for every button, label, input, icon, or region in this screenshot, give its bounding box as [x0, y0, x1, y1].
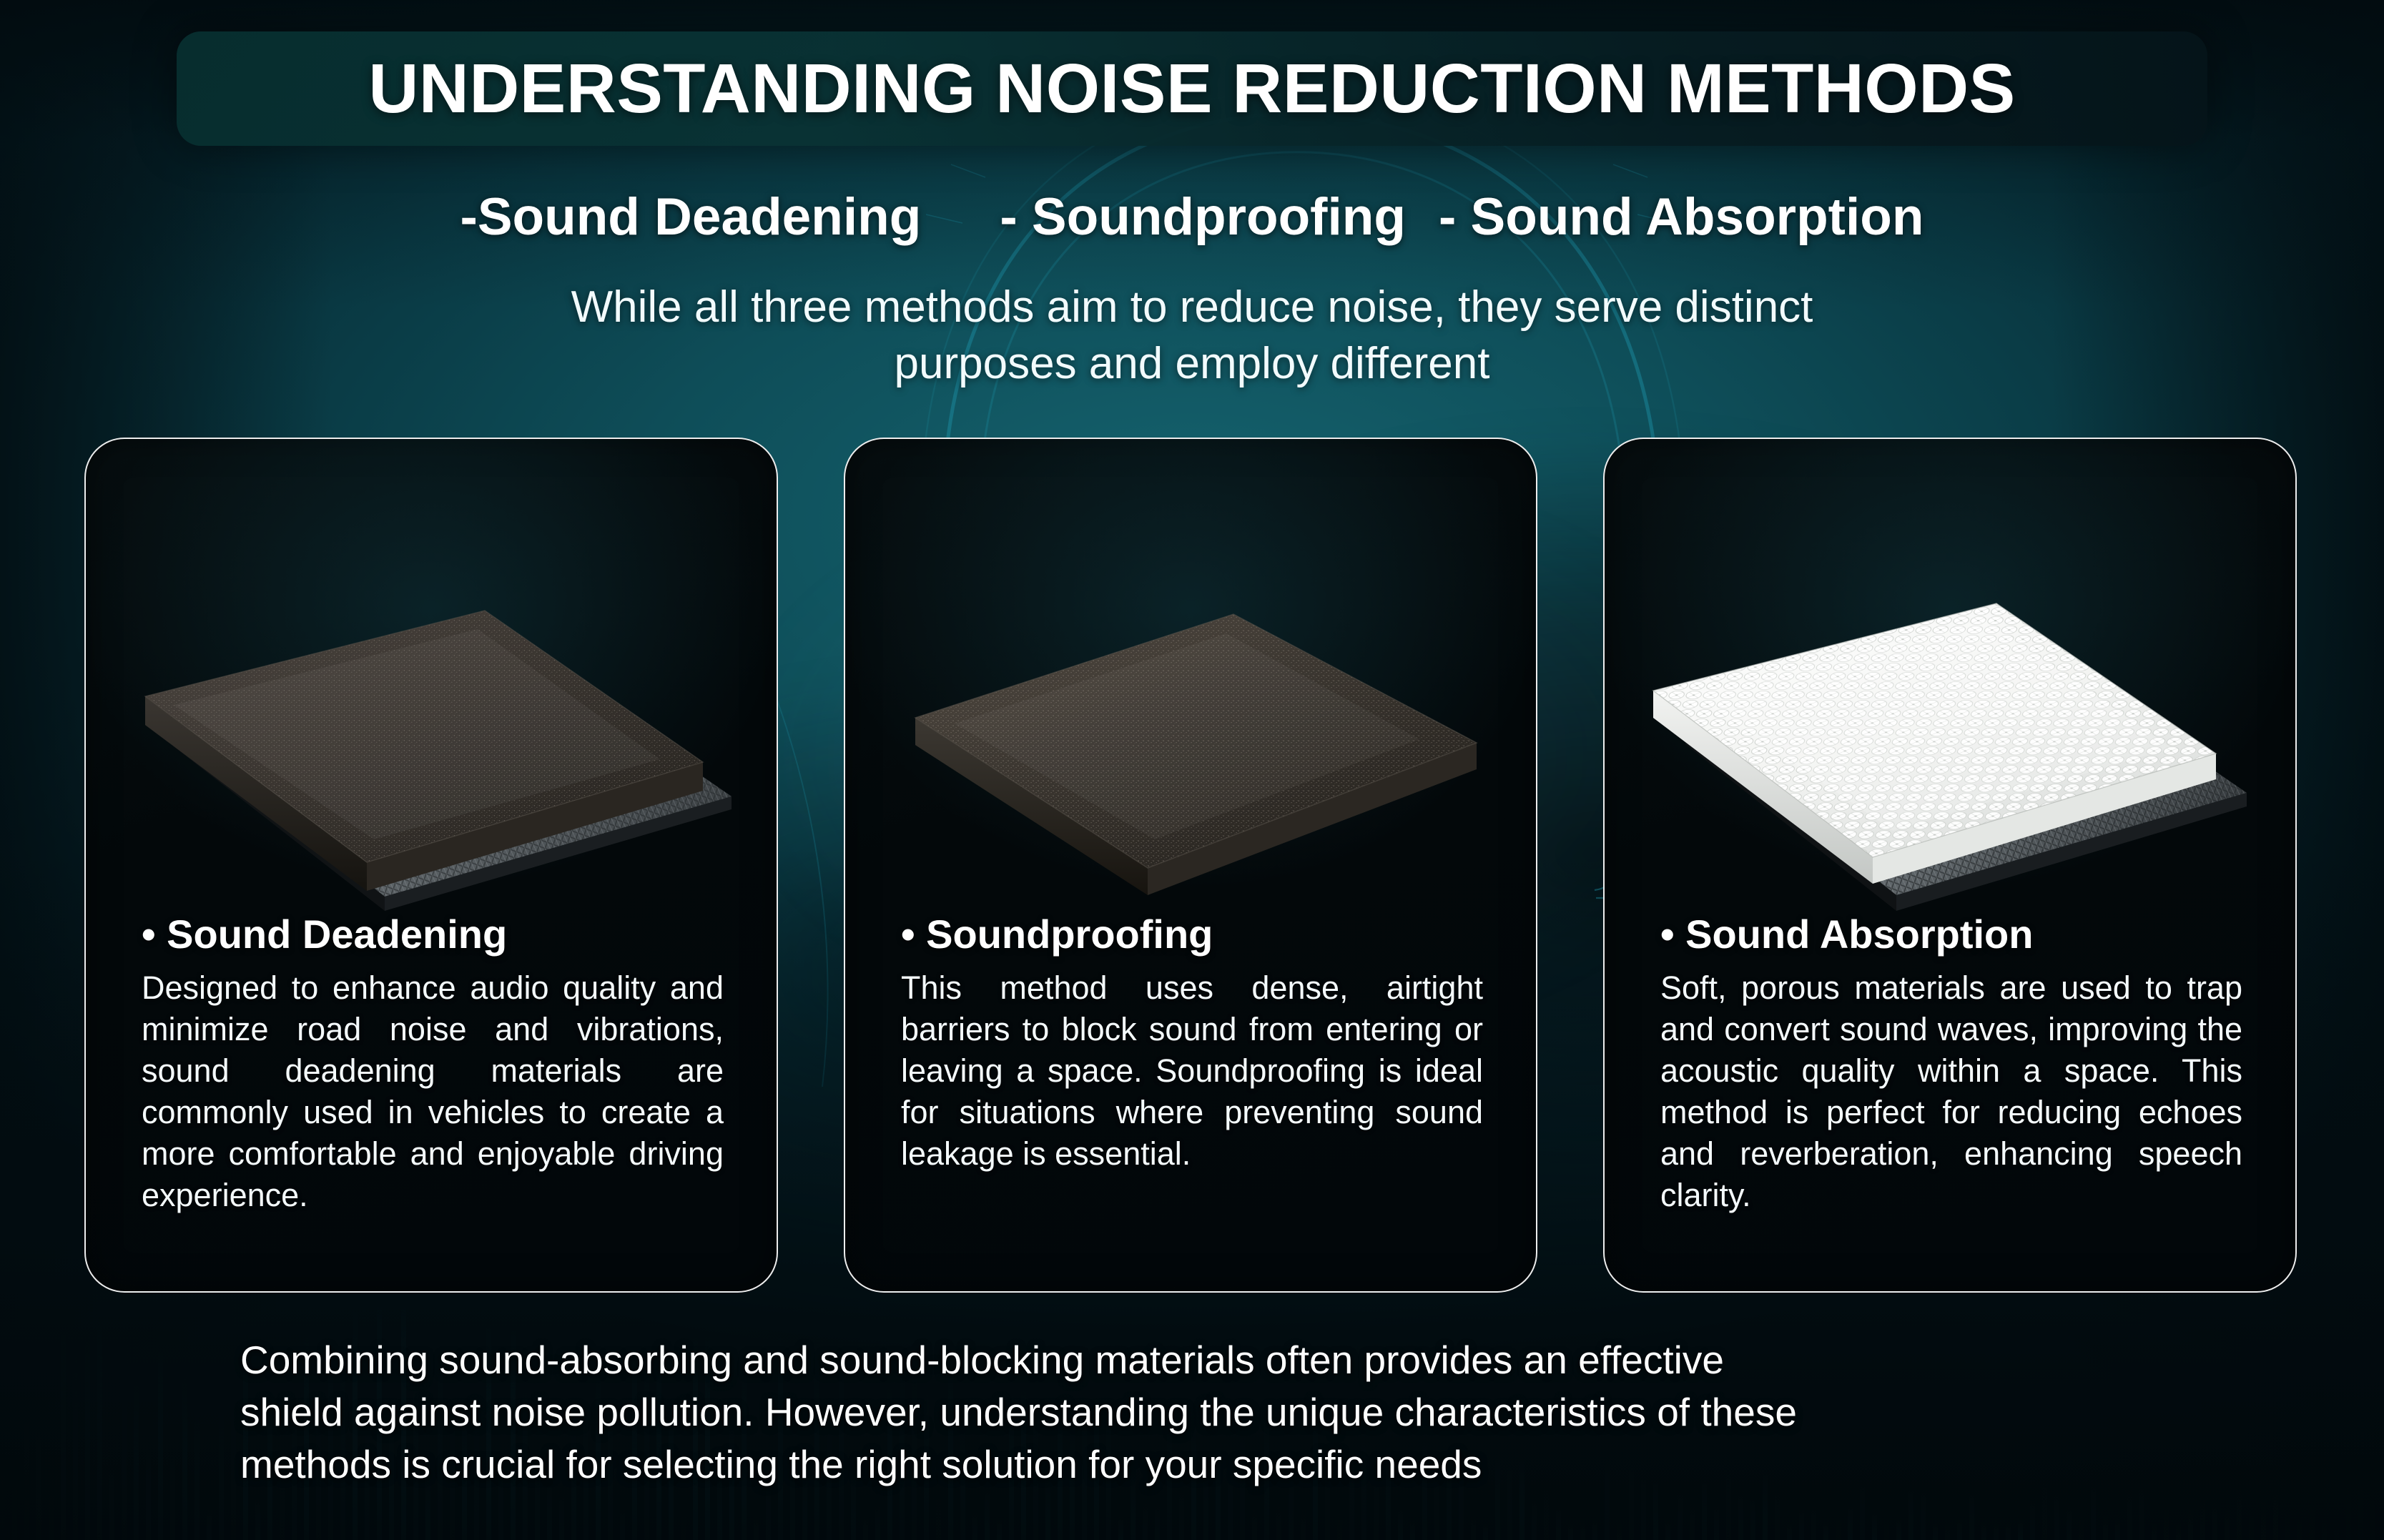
- card-image-sound-absorption: [1605, 439, 2295, 939]
- infographic-canvas: UNDERSTANDING NOISE REDUCTION METHODS -S…: [0, 0, 2384, 1540]
- card-image-soundproofing: [845, 439, 1536, 939]
- methods-list: -Sound Deadening - Soundproofing - Sound…: [0, 187, 2384, 247]
- card-sound-deadening[interactable]: • Sound Deadening Designed to enhance au…: [84, 438, 778, 1293]
- card-heading-sound-absorption: • Sound Absorption: [1660, 911, 2242, 957]
- card-body: • Sound Absorption Soft, porous material…: [1660, 911, 2242, 1216]
- card-body: • Sound Deadening Designed to enhance au…: [142, 911, 724, 1216]
- method-label-deadening: -Sound Deadening: [460, 187, 922, 247]
- card-text-sound-absorption: Soft, porous materials are used to trap …: [1660, 967, 2242, 1216]
- card-soundproofing[interactable]: • Soundproofing This method uses dense, …: [844, 438, 1537, 1293]
- footer-paragraph: Combining sound-absorbing and sound-bloc…: [240, 1334, 2151, 1491]
- card-text-sound-deadening: Designed to enhance audio quality and mi…: [142, 967, 724, 1216]
- subtitle-line-2: purposes and employ different: [0, 335, 2384, 392]
- footer-line-2: shield against noise pollution. However,…: [240, 1386, 2151, 1438]
- foam-barrier-sheet: [915, 614, 1477, 895]
- footer-line-1: Combining sound-absorbing and sound-bloc…: [240, 1334, 2151, 1386]
- card-body: • Soundproofing This method uses dense, …: [901, 911, 1483, 1175]
- card-text-soundproofing: This method uses dense, airtight barrier…: [901, 967, 1483, 1175]
- foam-top-layer: [145, 611, 703, 891]
- card-sound-absorption[interactable]: • Sound Absorption Soft, porous material…: [1603, 438, 2297, 1293]
- subtitle-line-1: While all three methods aim to reduce no…: [571, 282, 1813, 332]
- method-label-soundproofing: - Soundproofing: [1000, 187, 1406, 247]
- page-title: UNDERSTANDING NOISE REDUCTION METHODS: [368, 49, 2015, 129]
- card-image-sound-deadening: [86, 439, 777, 939]
- title-banner: UNDERSTANDING NOISE REDUCTION METHODS: [177, 31, 2207, 146]
- subtitle: While all three methods aim to reduce no…: [0, 279, 2384, 393]
- method-cards: • Sound Deadening Designed to enhance au…: [84, 438, 2297, 1293]
- method-label-absorption: - Sound Absorption: [1439, 187, 1924, 247]
- footer-line-3: methods is crucial for selecting the rig…: [240, 1438, 2151, 1491]
- card-heading-soundproofing: • Soundproofing: [901, 911, 1483, 957]
- card-heading-sound-deadening: • Sound Deadening: [142, 911, 724, 957]
- quilted-absorber-layer: [1653, 603, 2216, 884]
